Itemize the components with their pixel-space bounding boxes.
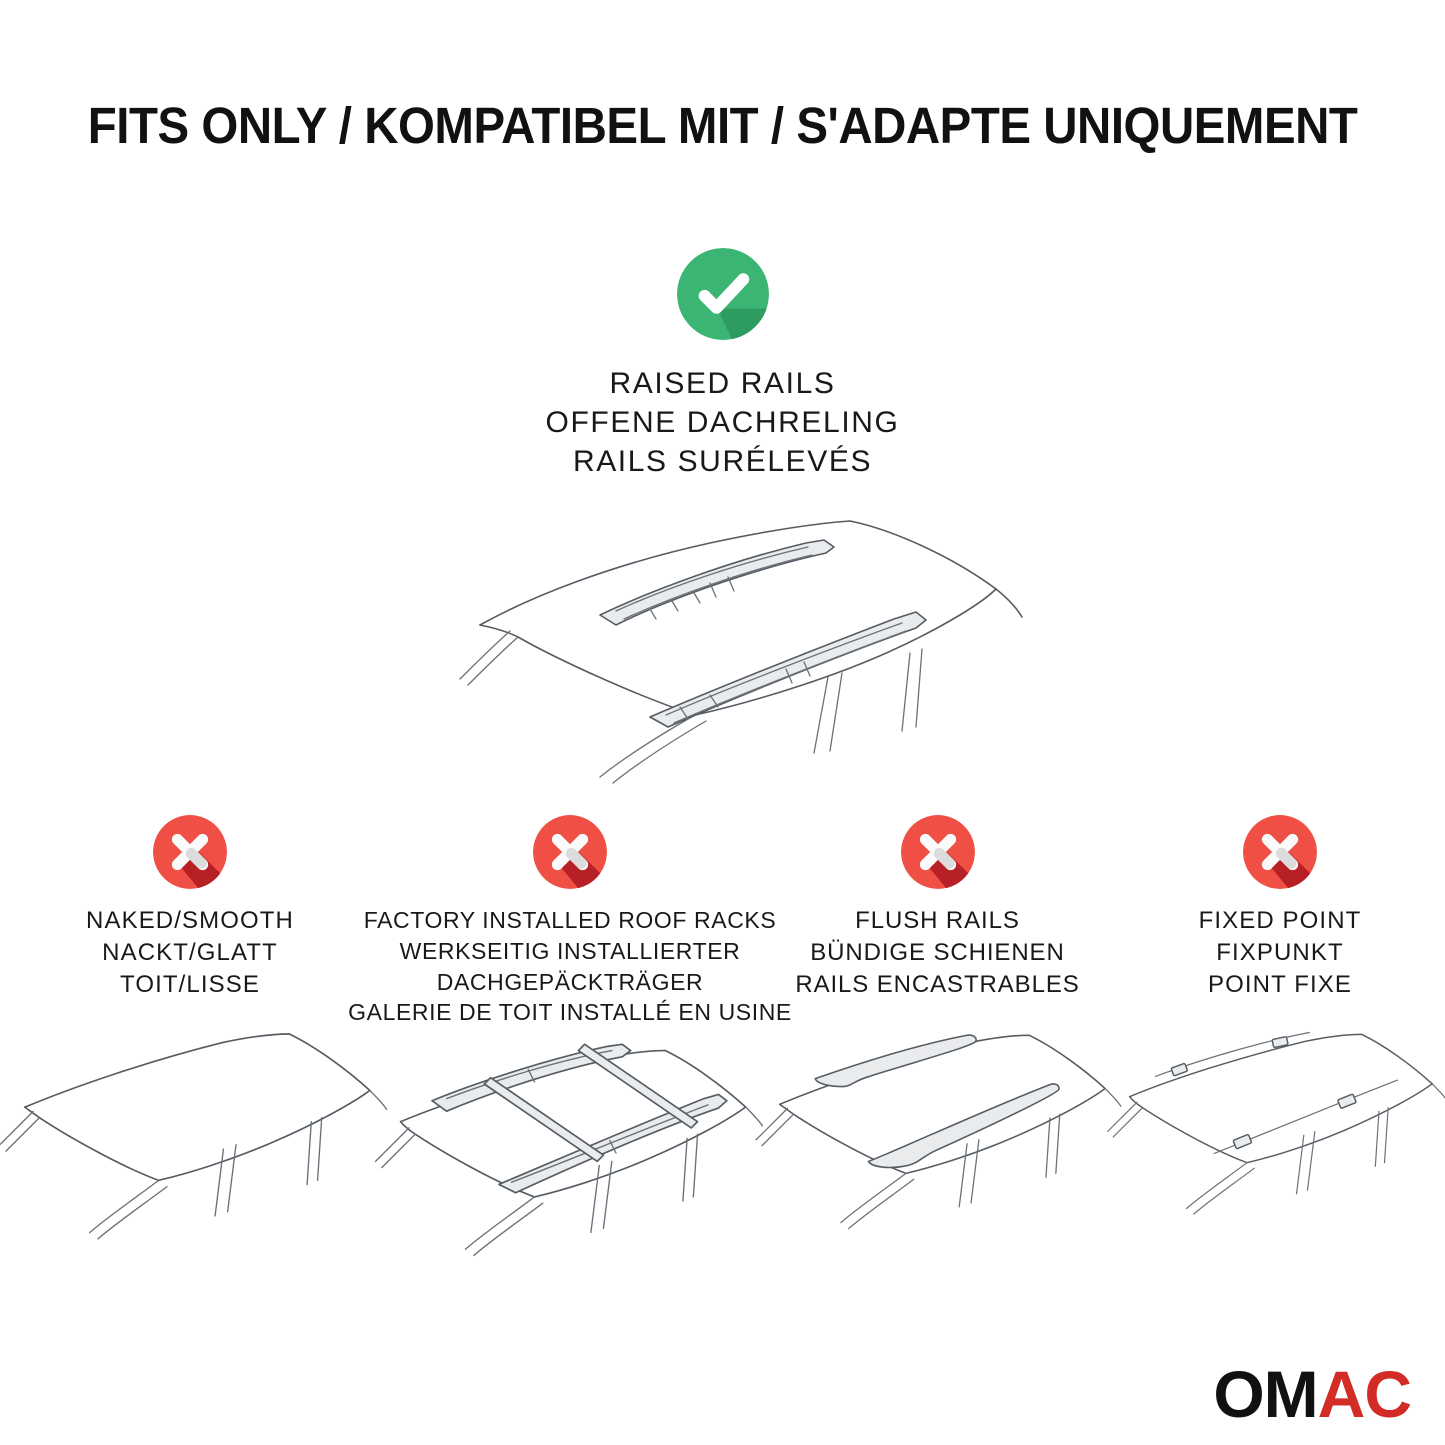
incompatible-line-en: FACTORY INSTALLED ROOF RACKS: [348, 905, 792, 936]
check-circle-icon: [677, 248, 769, 340]
incompatible-item-factory-roof-racks: FACTORY INSTALLED ROOF RACKS WERKSEITIG …: [380, 815, 760, 1268]
car-roof-flush-rails-illustration: [760, 1011, 1115, 1241]
compatible-line-en: RAISED RAILS: [546, 364, 900, 403]
x-circle-icon: [153, 815, 227, 889]
incompatible-line-de: BÜNDIGE SCHIENEN: [795, 937, 1079, 969]
x-circle-icon: [1243, 815, 1317, 889]
incompatible-line-en: NAKED/SMOOTH: [86, 905, 294, 937]
incompatible-line-fr: POINT FIXE: [1199, 969, 1362, 1001]
page-title: FITS ONLY / KOMPATIBEL MIT / S'ADAPTE UN…: [0, 96, 1445, 155]
incompatible-line-de-2: DACHGEPÄCKTRÄGER: [348, 967, 792, 998]
incompatible-item-flush-rails: FLUSH RAILS BÜNDIGE SCHIENEN RAILS ENCAS…: [760, 815, 1115, 1241]
incompatible-line-de-1: WERKSEITIG INSTALLIERTER: [348, 936, 792, 967]
incompatible-line-fr: RAILS ENCASTRABLES: [795, 969, 1079, 1001]
page-title-text: FITS ONLY / KOMPATIBEL MIT / S'ADAPTE UN…: [88, 96, 1358, 155]
incompatible-section: NAKED/SMOOTH NACKT/GLATT TOIT/LISSE: [0, 815, 1445, 1268]
car-roof-raised-rails-illustration: [410, 485, 1030, 785]
car-roof-factory-roof-racks-illustration: [380, 1038, 760, 1268]
incompatible-line-fr: GALERIE DE TOIT INSTALLÉ EN USINE: [348, 997, 792, 1028]
x-circle-icon: [533, 815, 607, 889]
compatible-line-fr: RAILS SURÉLEVÉS: [546, 442, 900, 481]
incompatible-line-en: FIXED POINT: [1199, 905, 1362, 937]
incompatible-item-fixed-point: FIXED POINT FIXPUNKT POINT FIXE: [1115, 815, 1445, 1241]
incompatible-caption: NAKED/SMOOTH NACKT/GLATT TOIT/LISSE: [86, 905, 294, 1001]
incompatible-line-fr: TOIT/LISSE: [86, 969, 294, 1001]
car-roof-naked-smooth-illustration: [0, 1011, 380, 1241]
logo-text-ac: AC: [1318, 1357, 1411, 1431]
compatible-caption: RAISED RAILS OFFENE DACHRELING RAILS SUR…: [546, 364, 900, 481]
car-roof-fixed-point-illustration: [1115, 1011, 1445, 1241]
incompatible-caption: FACTORY INSTALLED ROOF RACKS WERKSEITIG …: [348, 905, 792, 1028]
incompatible-line-de: FIXPUNKT: [1199, 937, 1362, 969]
incompatible-caption: FLUSH RAILS BÜNDIGE SCHIENEN RAILS ENCAS…: [795, 905, 1079, 1001]
incompatible-line-de: NACKT/GLATT: [86, 937, 294, 969]
incompatible-item-naked-smooth: NAKED/SMOOTH NACKT/GLATT TOIT/LISSE: [0, 815, 380, 1241]
logo-text-om: OM: [1213, 1357, 1317, 1431]
omac-logo: OMAC: [1213, 1361, 1411, 1427]
compatible-section: RAISED RAILS OFFENE DACHRELING RAILS SUR…: [0, 248, 1445, 481]
incompatible-line-en: FLUSH RAILS: [795, 905, 1079, 937]
compatible-line-de: OFFENE DACHRELING: [546, 403, 900, 442]
x-circle-icon: [901, 815, 975, 889]
incompatible-caption: FIXED POINT FIXPUNKT POINT FIXE: [1199, 905, 1362, 1001]
